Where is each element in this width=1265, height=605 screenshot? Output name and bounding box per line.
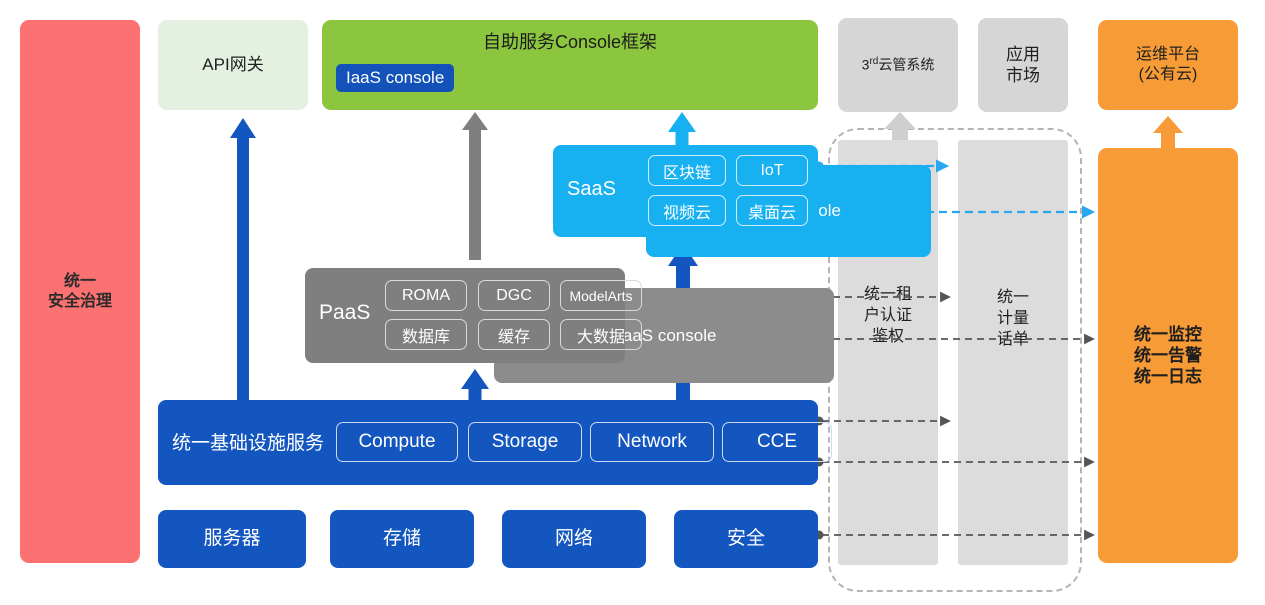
app-market-box[interactable]: 应用 市场 — [978, 18, 1068, 112]
third-party-label: 3rd云管系统 — [862, 56, 935, 74]
governance-line1: 统一 — [48, 272, 112, 292]
app-market-line2: 市场 — [1006, 65, 1040, 86]
metering-billing-column: 统一 计量 话单 — [958, 140, 1068, 565]
infra-item-network-label: Network — [617, 431, 687, 453]
saas-item-video-cloud-label: 视频云 — [663, 199, 711, 223]
paas-item-modelarts-label: ModelArts — [569, 288, 632, 304]
paas-item-bigdata-label: 大数据 — [577, 323, 625, 347]
saas-item-blockchain-label: 区块链 — [663, 159, 711, 183]
infra-band-label: 统一基础设施服务 — [172, 428, 324, 455]
paas-item-database[interactable]: 数据库 — [385, 319, 467, 350]
iaas-console-chip[interactable]: IaaS console — [336, 64, 454, 92]
saas-layer-box: SaaS 区块链 IoT 视频云 桌面云 — [553, 145, 818, 237]
paas-item-roma[interactable]: ROMA — [385, 280, 467, 311]
saas-item-video-cloud[interactable]: 视频云 — [648, 195, 726, 226]
saas-item-desktop-cloud-label: 桌面云 — [748, 199, 796, 223]
unified-infrastructure-band: 统一基础设施服务 Compute Storage Network CCE — [158, 400, 818, 485]
governance-line2: 安全治理 — [48, 292, 112, 312]
infra-item-compute-label: Compute — [358, 431, 435, 453]
infra-item-storage[interactable]: Storage — [468, 422, 582, 462]
unified-security-governance-panel: 统一 安全治理 — [20, 20, 140, 563]
ops-main-line2: 统一告警 — [1134, 345, 1202, 366]
paas-to-console-arrow — [462, 112, 488, 260]
resource-box-server-label: 服务器 — [203, 527, 260, 551]
third-party-superscript: rd — [869, 56, 878, 67]
resource-box-security[interactable]: 安全 — [674, 510, 818, 568]
ops-main-line3: 统一日志 — [1134, 366, 1202, 387]
opsmain-to-opsplatform-arrow — [1153, 116, 1183, 148]
paas-item-cache-label: 缓存 — [498, 323, 530, 347]
tenant-auth-line1: 统一租 — [838, 285, 938, 306]
paas-item-modelarts[interactable]: ModelArts — [560, 280, 642, 311]
resource-box-security-label: 安全 — [727, 527, 765, 551]
infra-item-network[interactable]: Network — [590, 422, 714, 462]
resource-box-storage-label: 存储 — [383, 527, 421, 551]
saas-item-desktop-cloud[interactable]: 桌面云 — [736, 195, 808, 226]
paas-layer-label: PaaS — [319, 301, 370, 325]
saas-item-iot[interactable]: IoT — [736, 155, 808, 186]
resource-box-network-label: 网络 — [555, 527, 593, 551]
app-market-line1: 应用 — [1006, 44, 1040, 65]
ops-main-line1: 统一监控 — [1134, 324, 1202, 345]
paas-item-dgc[interactable]: DGC — [478, 280, 550, 311]
infra-item-cce-label: CCE — [757, 431, 797, 453]
saas-layer-label: SaaS — [567, 178, 616, 201]
infra-item-storage-label: Storage — [492, 431, 559, 453]
infra-item-compute[interactable]: Compute — [336, 422, 458, 462]
tenant-auth-line3: 鉴权 — [838, 327, 938, 348]
saas-item-iot-label: IoT — [760, 162, 783, 180]
ops-platform-box[interactable]: 运维平台 (公有云) — [1098, 20, 1238, 110]
paas-item-cache[interactable]: 缓存 — [478, 319, 550, 350]
tenant-auth-label: 统一租 户认证 鉴权 — [838, 285, 938, 347]
unified-monitoring-panel: 统一监控 统一告警 统一日志 — [1098, 148, 1238, 563]
architecture-diagram: 统一租 户认证 鉴权 统一 计量 话单 — [0, 0, 1265, 605]
api-gateway-box[interactable]: API网关 — [158, 20, 308, 110]
third-party-rest: 云管系统 — [878, 57, 934, 73]
saas-item-blockchain[interactable]: 区块链 — [648, 155, 726, 186]
paas-item-bigdata[interactable]: 大数据 — [560, 319, 642, 350]
console-frame-title: 自助服务Console框架 — [322, 27, 818, 55]
infra-to-apigateway-arrow — [230, 118, 256, 400]
metering-line1: 统一 — [958, 288, 1068, 309]
infra-item-cce[interactable]: CCE — [722, 422, 832, 462]
api-gateway-label: API网关 — [202, 54, 263, 75]
metering-line3: 话单 — [958, 330, 1068, 351]
tenant-auth-line2: 户认证 — [838, 306, 938, 327]
paas-layer-box: PaaS ROMA DGC ModelArts 数据库 缓存 大数据 — [305, 268, 625, 363]
metering-label: 统一 计量 话单 — [958, 288, 1068, 350]
ops-platform-line2: (公有云) — [1136, 65, 1200, 85]
metering-line2: 计量 — [958, 309, 1068, 330]
resource-box-storage[interactable]: 存储 — [330, 510, 474, 568]
paas-item-dgc-label: DGC — [496, 287, 532, 305]
ops-platform-line1: 运维平台 — [1136, 45, 1200, 65]
infra-to-paas-arrow — [461, 369, 489, 402]
saas-to-console-arrow — [668, 112, 696, 148]
shared-to-thirdparty-arrow — [884, 112, 916, 140]
resource-box-network[interactable]: 网络 — [502, 510, 646, 568]
paas-item-roma-label: ROMA — [402, 287, 450, 305]
third-party-cloud-mgmt-box[interactable]: 3rd云管系统 — [838, 18, 958, 112]
resource-box-server[interactable]: 服务器 — [158, 510, 306, 568]
self-service-console-frame: 自助服务Console框架 IaaS console PaaS console … — [322, 20, 818, 110]
paas-item-database-label: 数据库 — [402, 323, 450, 347]
iaas-console-label: IaaS console — [346, 68, 444, 88]
